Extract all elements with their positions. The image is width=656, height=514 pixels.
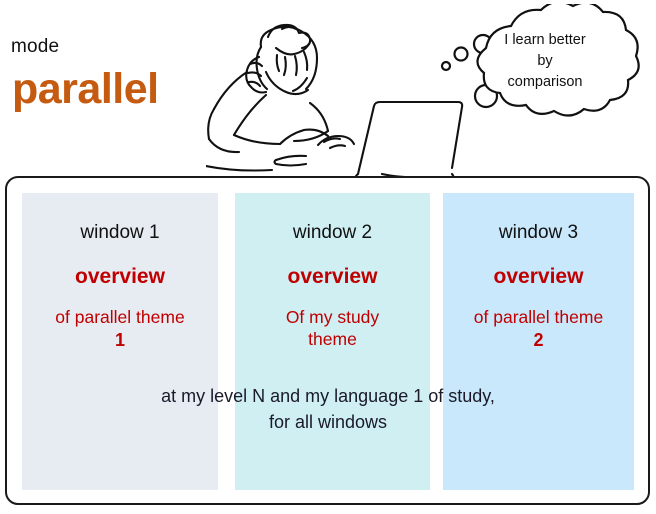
window-1-number: 1 (22, 329, 218, 352)
window-2-subtitle-block: Of my study theme (235, 307, 430, 351)
windows-caption: at my level N and my language 1 of study… (22, 383, 634, 435)
person-studying-at-laptop-illustration (206, 0, 466, 180)
slide-canvas: mode parallel (0, 0, 656, 514)
window-3-number: 2 (443, 329, 634, 352)
window-2-title: window 2 (235, 222, 430, 244)
window-1-subtitle: of parallel theme (22, 307, 218, 329)
window-panel-3[interactable]: window 3 overview of parallel theme 2 (443, 193, 634, 490)
thought-bubble-text: I learn better by comparison (470, 30, 620, 93)
bubble-line-1: I learn better (470, 30, 620, 51)
window-3-subtitle-block: of parallel theme 2 (443, 307, 634, 351)
window-2-subtitle: Of my study (235, 307, 430, 329)
window-1-heading: overview (22, 265, 218, 289)
window-3-title: window 3 (443, 222, 634, 244)
mode-value: parallel (12, 68, 159, 111)
bubble-line-2: by (470, 51, 620, 72)
window-panel-1[interactable]: window 1 overview of parallel theme 1 (22, 193, 218, 490)
window-1-subtitle-block: of parallel theme 1 (22, 307, 218, 351)
mode-label: mode (11, 36, 59, 58)
bubble-line-3: comparison (470, 72, 620, 93)
window-3-subtitle: of parallel theme (443, 307, 634, 329)
window-2-number: theme (235, 329, 430, 351)
window-2-heading: overview (235, 265, 430, 289)
window-3-heading: overview (443, 265, 634, 289)
caption-line-2: for all windows (22, 409, 634, 435)
caption-line-1: at my level N and my language 1 of study… (22, 383, 634, 409)
window-panel-2[interactable]: window 2 overview Of my study theme (235, 193, 430, 490)
window-1-title: window 1 (22, 222, 218, 244)
